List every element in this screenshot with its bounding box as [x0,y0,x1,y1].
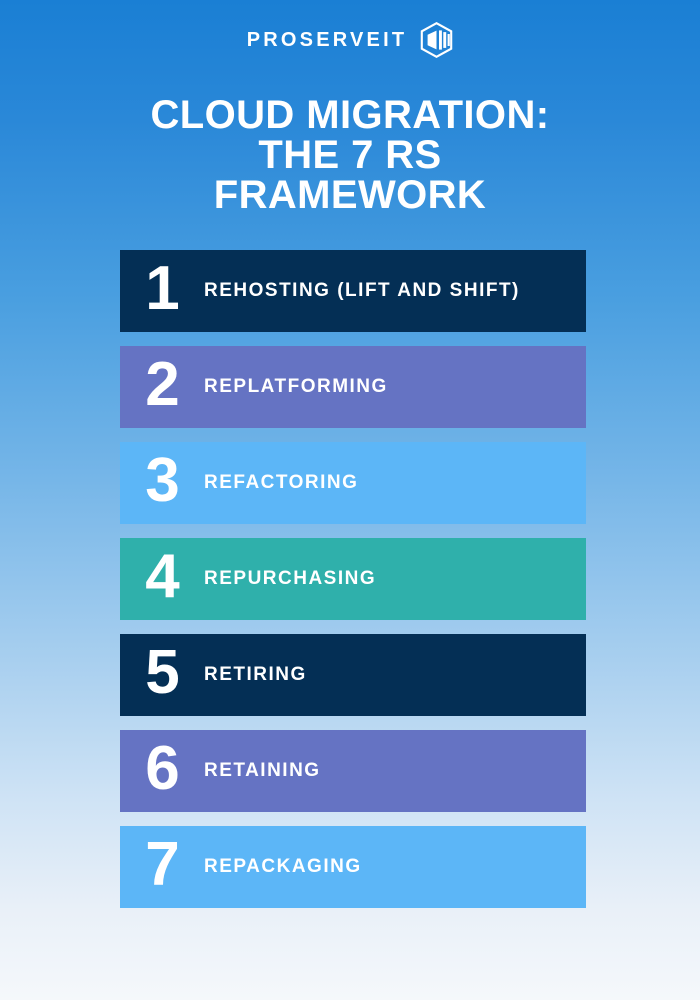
list-item-label: REPACKAGING [204,856,362,878]
list-item: 2 REPLATFORMING [120,346,586,428]
title-line-3: FRAMEWORK [0,175,700,215]
list-item-label: RETIRING [204,664,307,686]
list-item-number: 2 [120,354,204,420]
list-item-number: 4 [120,546,204,612]
title-line-1: CLOUD MIGRATION: [0,95,700,135]
list-item-label: REFACTORING [204,472,358,494]
list-item-number: 6 [120,738,204,804]
list-item-label: RETAINING [204,760,321,782]
list-item: 3 REFACTORING [120,442,586,524]
list-item: 7 REPACKAGING [120,826,586,908]
title-line-2: THE 7 Rs [0,135,700,175]
brand-wordmark: PROSERVEIT [247,30,408,50]
list-item: 5 RETIRING [120,634,586,716]
list-item-label: REPURCHASING [204,568,376,590]
list-item: 1 REHOSTING (LIFT AND SHIFT) [120,250,586,332]
list-item-number: 7 [120,834,204,900]
list-item-number: 1 [120,258,204,324]
page-title: CLOUD MIGRATION: THE 7 Rs FRAMEWORK [0,95,700,215]
list-item-label: REHOSTING (LIFT AND SHIFT) [204,280,520,302]
framework-list: 1 REHOSTING (LIFT AND SHIFT) 2 REPLATFOR… [120,250,586,908]
infographic-poster: PROSERVEIT CLOUD MIGRATION: THE 7 Rs FRA… [0,0,700,1000]
list-item-number: 3 [120,450,204,516]
cube-hexagon-icon [420,22,453,58]
list-item: 6 RETAINING [120,730,586,812]
brand-logo: PROSERVEIT [0,22,700,58]
list-item-number: 5 [120,642,204,708]
list-item: 4 REPURCHASING [120,538,586,620]
list-item-label: REPLATFORMING [204,376,388,398]
